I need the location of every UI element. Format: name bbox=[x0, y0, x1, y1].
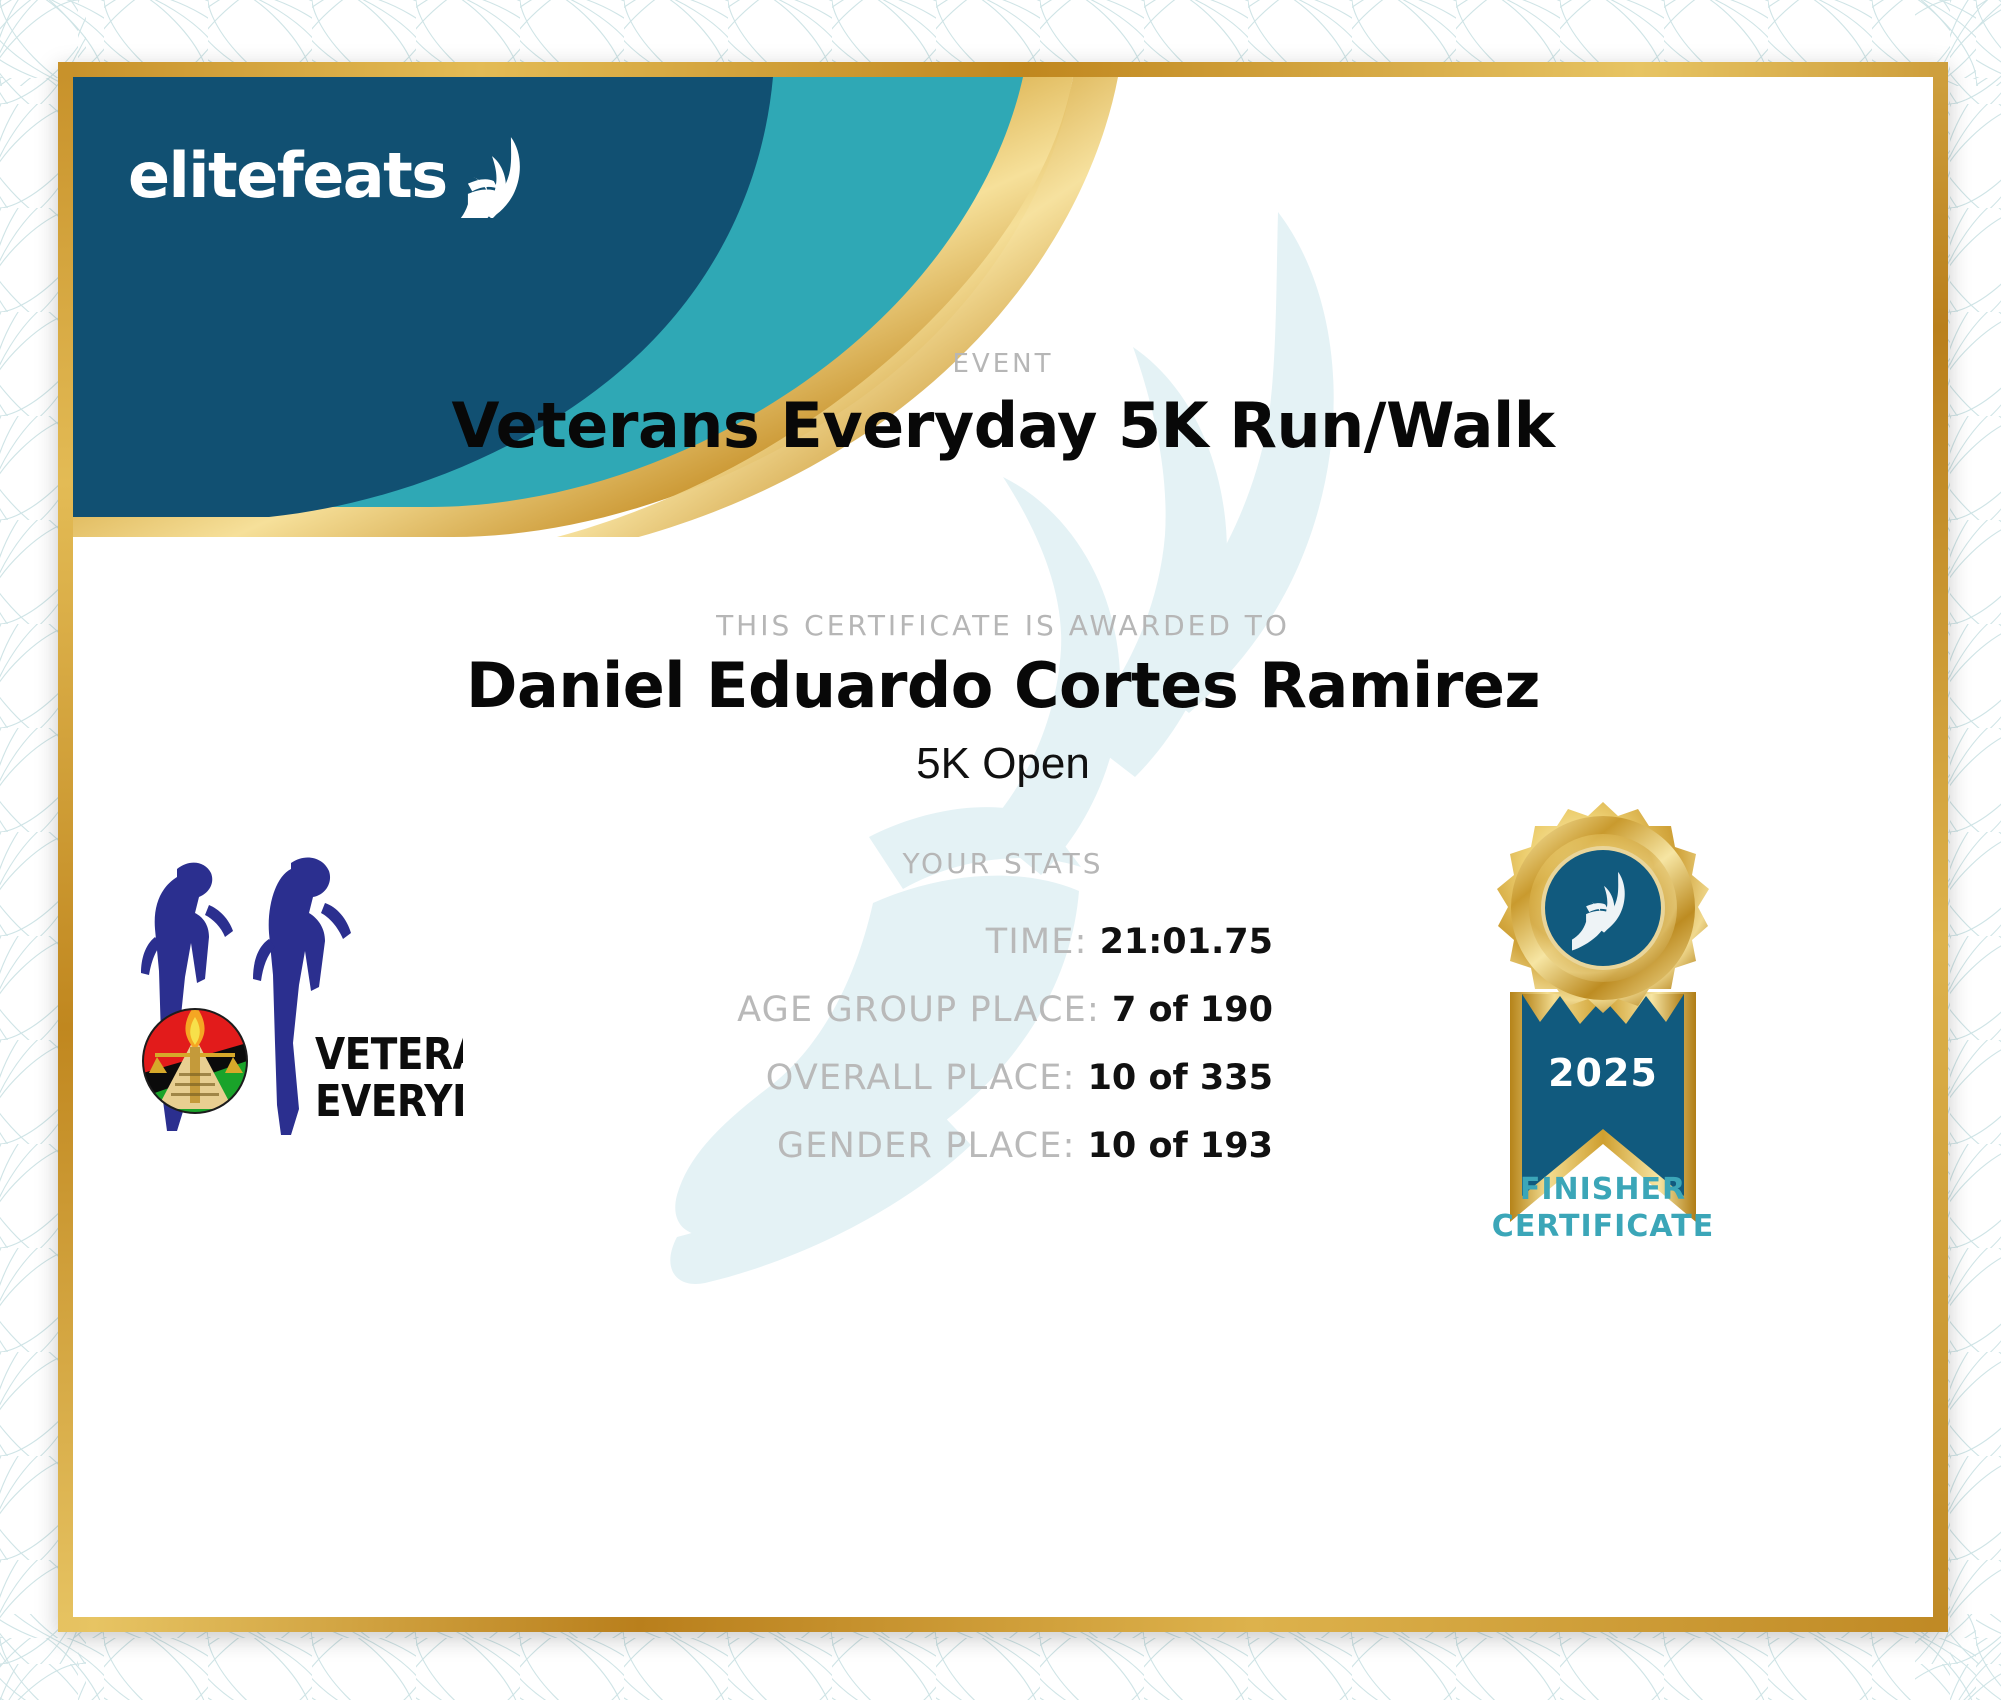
sponsor-logo-line1: VETERANS bbox=[315, 1029, 463, 1080]
veterans-everyday-logo: VETERANS EVERYDAY bbox=[133, 847, 463, 1137]
stat-row-age-group-place: AGE GROUP PLACE: 7 of 190 bbox=[333, 990, 1273, 1042]
stat-key: TIME: bbox=[986, 922, 1088, 962]
stat-value: 10 of 335 bbox=[1088, 1058, 1273, 1098]
stat-key: AGE GROUP PLACE: bbox=[737, 990, 1100, 1030]
sponsor-logo-line2: EVERYDAY bbox=[315, 1076, 463, 1127]
stat-key: OVERALL PLACE: bbox=[766, 1058, 1076, 1098]
finisher-caption-line2: CERTIFICATE bbox=[1448, 1209, 1758, 1246]
stat-key: GENDER PLACE: bbox=[777, 1126, 1076, 1166]
certificate-page: elitefeats EVENT Veterans Everyday 5K Ru… bbox=[0, 0, 2001, 1700]
stat-row-overall-place: OVERALL PLACE: 10 of 335 bbox=[333, 1058, 1273, 1110]
finisher-certificate-caption: FINISHER CERTIFICATE bbox=[1448, 1172, 1758, 1245]
stat-row-gender-place: GENDER PLACE: 10 of 193 bbox=[333, 1126, 1273, 1178]
stat-row-time: TIME: 21:01.75 bbox=[333, 922, 1273, 974]
event-label: EVENT bbox=[73, 349, 1933, 379]
awarded-to-label: THIS CERTIFICATE IS AWARDED TO bbox=[73, 609, 1933, 642]
stats-table: TIME: 21:01.75 AGE GROUP PLACE: 7 of 190… bbox=[333, 922, 1273, 1194]
stat-value: 10 of 193 bbox=[1088, 1126, 1273, 1166]
medal-year: 2025 bbox=[1548, 1051, 1658, 1095]
finisher-caption-line1: FINISHER bbox=[1448, 1172, 1758, 1209]
certificate-body: elitefeats EVENT Veterans Everyday 5K Ru… bbox=[73, 77, 1933, 1617]
stat-value: 21:01.75 bbox=[1100, 922, 1273, 962]
recipient-name: Daniel Eduardo Cortes Ramirez bbox=[73, 649, 1933, 722]
stat-value: 7 of 190 bbox=[1112, 990, 1273, 1030]
event-title: Veterans Everyday 5K Run/Walk bbox=[73, 389, 1933, 462]
medal-disc bbox=[1497, 802, 1709, 1013]
division-name: 5K Open bbox=[73, 739, 1933, 789]
certificate-content: EVENT Veterans Everyday 5K Run/Walk THIS… bbox=[73, 77, 1933, 1617]
